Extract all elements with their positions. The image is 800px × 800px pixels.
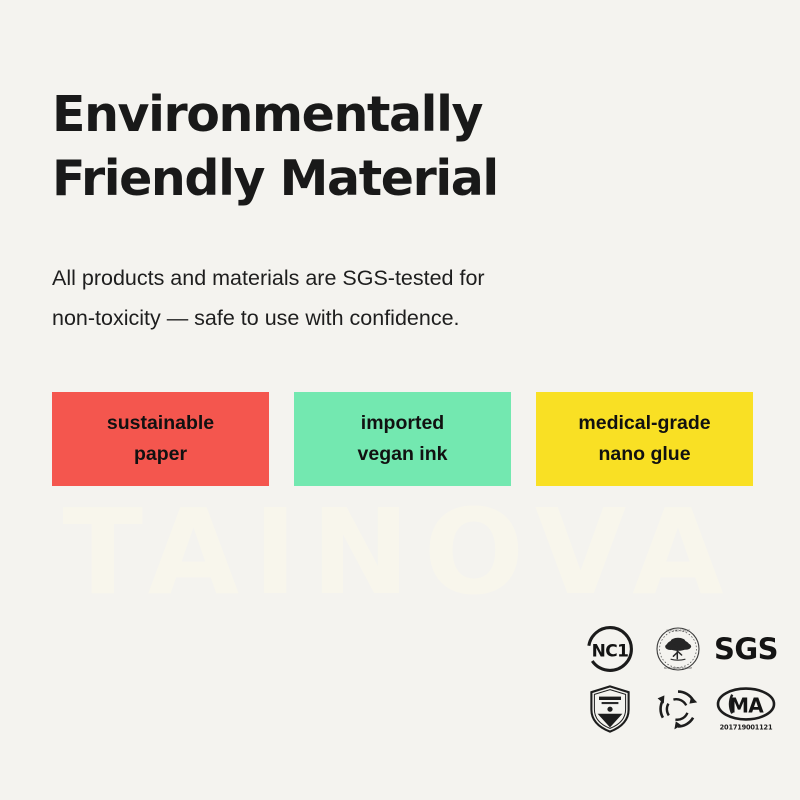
certification-badge-group: NC1 CERTIFIED FOREST SUSTAINABLE SOURCE [576,620,780,740]
svg-text:NC1: NC1 [592,641,629,661]
page-title-line-1: Environmentally [52,86,482,143]
poster-canvas: TAINOVA Environmentally Friendly Materia… [0,0,800,800]
page-title: Environmentally Friendly Material [52,83,692,211]
sgs-certification-label: SGS [715,621,777,677]
page-subtitle-line-1: All products and materials are SGS-teste… [52,266,485,290]
quality-shield-icon [579,681,641,737]
material-chip-line-2: paper [134,439,187,470]
material-chip-line-1: medical-grade [578,408,710,439]
material-chip-line-2: vegan ink [358,439,448,470]
material-chip-medical-grade-nano-glue: medical-grade nano glue [536,392,753,486]
material-chip-line-2: nano glue [598,439,690,470]
brand-watermark: TAINOVA [0,492,800,612]
cma-certification-icon: MA 201719001121 [715,681,777,737]
cma-certification-code: 201719001121 [720,724,773,732]
recyclable-icon [647,681,709,737]
page-subtitle-line-2: non-toxicity — safe to use with confiden… [52,298,652,338]
material-chip-sustainable-paper: sustainable paper [52,392,269,486]
material-chip-line-1: imported [361,408,444,439]
svg-text:CERTIFIED FOREST: CERTIFIED FOREST [666,628,690,632]
nc1-certification-icon: NC1 [579,621,641,677]
forest-stewardship-seal-icon: CERTIFIED FOREST SUSTAINABLE SOURCE [647,621,709,677]
material-chip-group: sustainable paper imported vegan ink med… [52,392,753,486]
svg-text:MA: MA [729,693,764,717]
material-chip-line-1: sustainable [107,408,214,439]
material-chip-imported-vegan-ink: imported vegan ink [294,392,511,486]
page-subtitle: All products and materials are SGS-teste… [52,258,652,338]
svg-text:SUSTAINABLE SOURCE: SUSTAINABLE SOURCE [664,666,693,670]
page-title-line-2: Friendly Material [52,147,692,211]
